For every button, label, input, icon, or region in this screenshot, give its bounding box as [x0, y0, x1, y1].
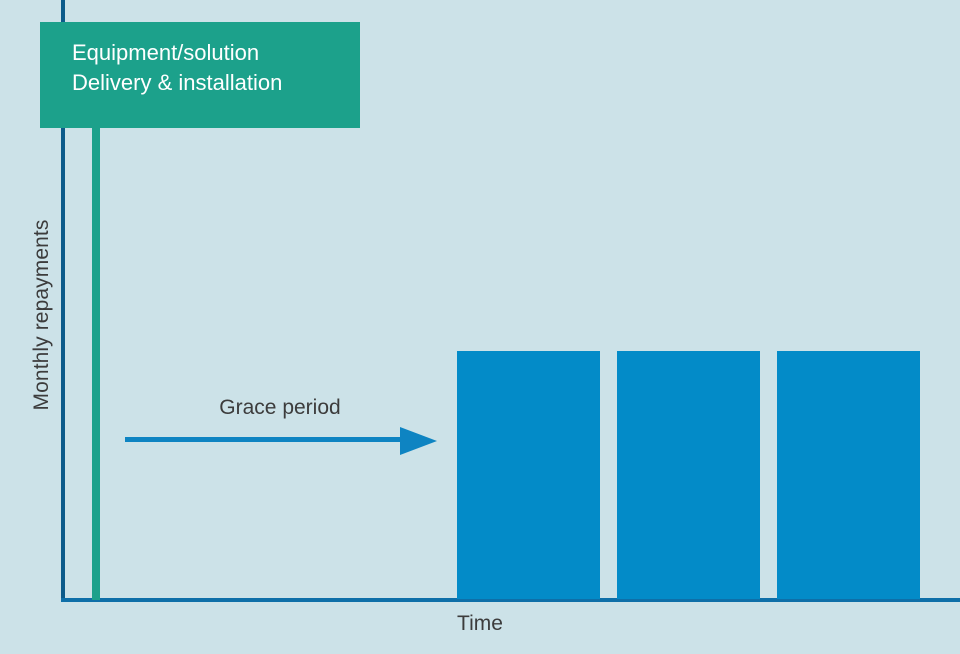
grace-period-label: Grace period — [125, 396, 435, 420]
callout-line-2: Delivery & installation — [72, 68, 360, 98]
callout-line-1: Equipment/solution — [72, 38, 360, 68]
bar-repayment-3 — [777, 351, 920, 599]
y-axis-title: Monthly repayments — [30, 185, 54, 445]
repayment-schedule-diagram: Equipment/solution Delivery & installati… — [0, 0, 960, 654]
bar-repayment-1 — [457, 351, 600, 599]
delivery-callout-box: Equipment/solution Delivery & installati… — [40, 22, 360, 128]
grace-period-arrow-icon — [125, 425, 437, 457]
x-axis-title: Time — [0, 612, 960, 636]
bar-repayment-2 — [617, 351, 760, 599]
